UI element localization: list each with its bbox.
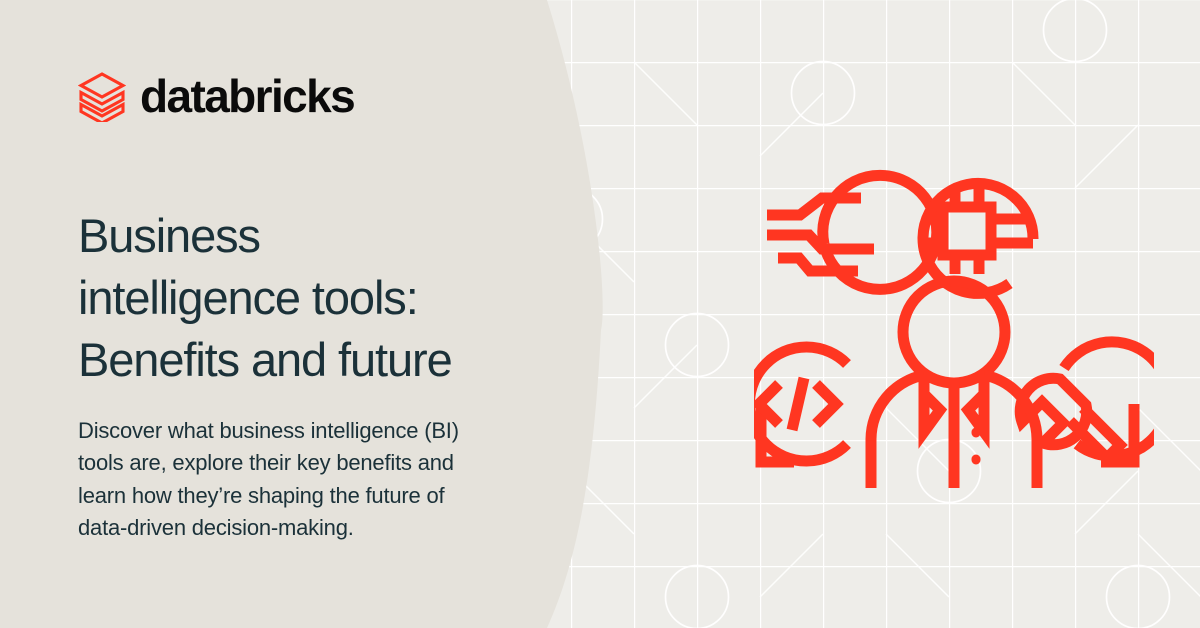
subhead-line-3: learn how they’re shaping the future of xyxy=(78,483,444,508)
person-head xyxy=(903,281,1005,383)
person-left-shoulder xyxy=(871,375,924,488)
subhead-line-4: data-driven decision-making. xyxy=(78,515,354,540)
code-glyph xyxy=(759,378,836,430)
databricks-wordmark: databricks xyxy=(140,73,354,119)
headline-line-3: Benefits and future xyxy=(78,333,452,386)
databricks-stacked-layers-logo-icon xyxy=(78,70,126,122)
content-column: databricks Business intelligence tools: … xyxy=(78,0,548,628)
person-bust-icon xyxy=(871,281,1037,488)
social-card: databricks Business intelligence tools: … xyxy=(0,0,1200,628)
databricks-logo[interactable]: databricks xyxy=(78,70,354,122)
page-subtitle: Discover what business intelligence (BI)… xyxy=(78,415,538,544)
subhead-line-2: tools are, explore their key benefits an… xyxy=(78,450,454,475)
subhead-line-1: Discover what business intelligence (BI) xyxy=(78,418,459,443)
headline-line-2: intelligence tools: xyxy=(78,271,418,324)
page-title: Business intelligence tools: Benefits an… xyxy=(78,205,548,391)
illustration-svg xyxy=(754,132,1154,488)
business-intelligence-team-illustration xyxy=(754,132,1154,488)
headline-line-1: Business xyxy=(78,209,260,262)
